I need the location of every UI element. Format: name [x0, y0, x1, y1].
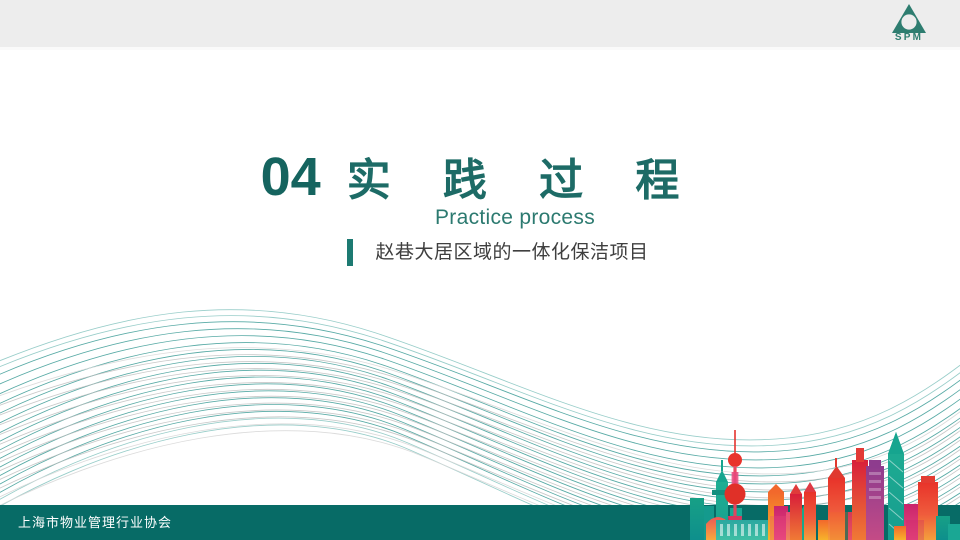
accent-bar — [347, 239, 353, 266]
title-row: 04 实 践 过 程 — [0, 148, 960, 210]
section-number: 04 — [261, 148, 321, 206]
triangle-circle-logo-icon — [892, 4, 926, 33]
spm-logo: SPM — [880, 3, 938, 46]
header-hairline — [0, 47, 960, 50]
title-subtitle-english: Practice process — [0, 206, 960, 230]
project-subtitle: 赵巷大居区域的一体化保洁项目 — [375, 239, 648, 266]
footer-organization-name: 上海市物业管理行业协会 — [18, 514, 172, 531]
logo-text: SPM — [880, 32, 938, 44]
title-block: 04 实 践 过 程 Practice process 赵巷大居区域的一体化保洁… — [0, 148, 960, 266]
header-band — [0, 0, 960, 47]
presentation-slide: SPM — [0, 0, 960, 540]
page-title: 实 践 过 程 — [343, 152, 700, 210]
shanghai-skyline-illustration — [690, 420, 960, 540]
subtitle-row: 赵巷大居区域的一体化保洁项目 — [0, 239, 960, 266]
